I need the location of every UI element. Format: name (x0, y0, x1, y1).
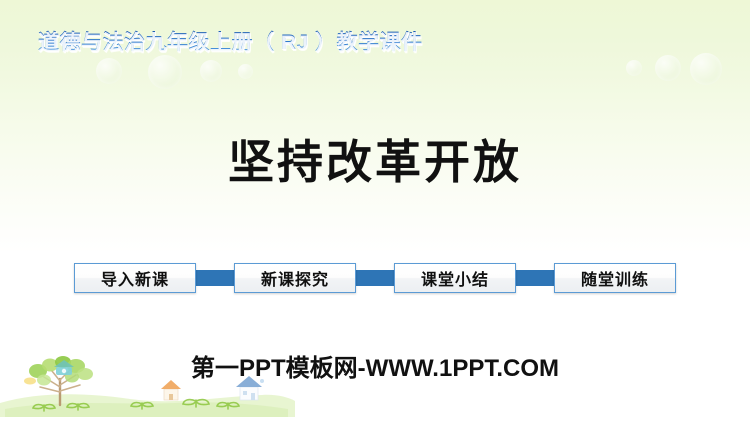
nav-button-label: 课堂小结 (421, 266, 489, 290)
nav-button-row: 导入新课 新课探究 课堂小结 随堂训练 (74, 263, 676, 293)
house-orange-roof (161, 380, 181, 400)
background-bubble (148, 55, 182, 89)
background-bubble (690, 53, 722, 85)
presentation-slide: 道德与法治九年级上册（ RJ ）教学课件 坚持改革开放 导入新课 新课探究 课堂… (0, 0, 750, 422)
nav-button-in-class-practice[interactable]: 随堂训练 (554, 263, 676, 293)
grass-ground-strip (0, 394, 295, 417)
watermark-text: 第一PPT模板网-WWW.1PPT.COM (0, 348, 750, 383)
background-bubble (626, 60, 642, 76)
nav-button-label: 导入新课 (101, 266, 169, 290)
nav-button-import-lesson[interactable]: 导入新课 (74, 263, 196, 293)
background-bubble (238, 64, 253, 79)
page-title: 坚持改革开放 (0, 138, 750, 186)
background-bubble (96, 58, 122, 84)
background-bubble (200, 60, 222, 82)
grass-sprouts (33, 400, 239, 411)
nav-button-class-summary[interactable]: 课堂小结 (394, 263, 516, 293)
nav-button-label: 随堂训练 (581, 266, 649, 290)
section-nav: 导入新课 新课探究 课堂小结 随堂训练 (74, 263, 676, 293)
background-bubble (655, 55, 681, 81)
nav-button-new-lesson-inquiry[interactable]: 新课探究 (234, 263, 356, 293)
course-header-text: 道德与法治九年级上册（ RJ ）教学课件 (38, 26, 423, 56)
nav-button-label: 新课探究 (261, 266, 329, 290)
